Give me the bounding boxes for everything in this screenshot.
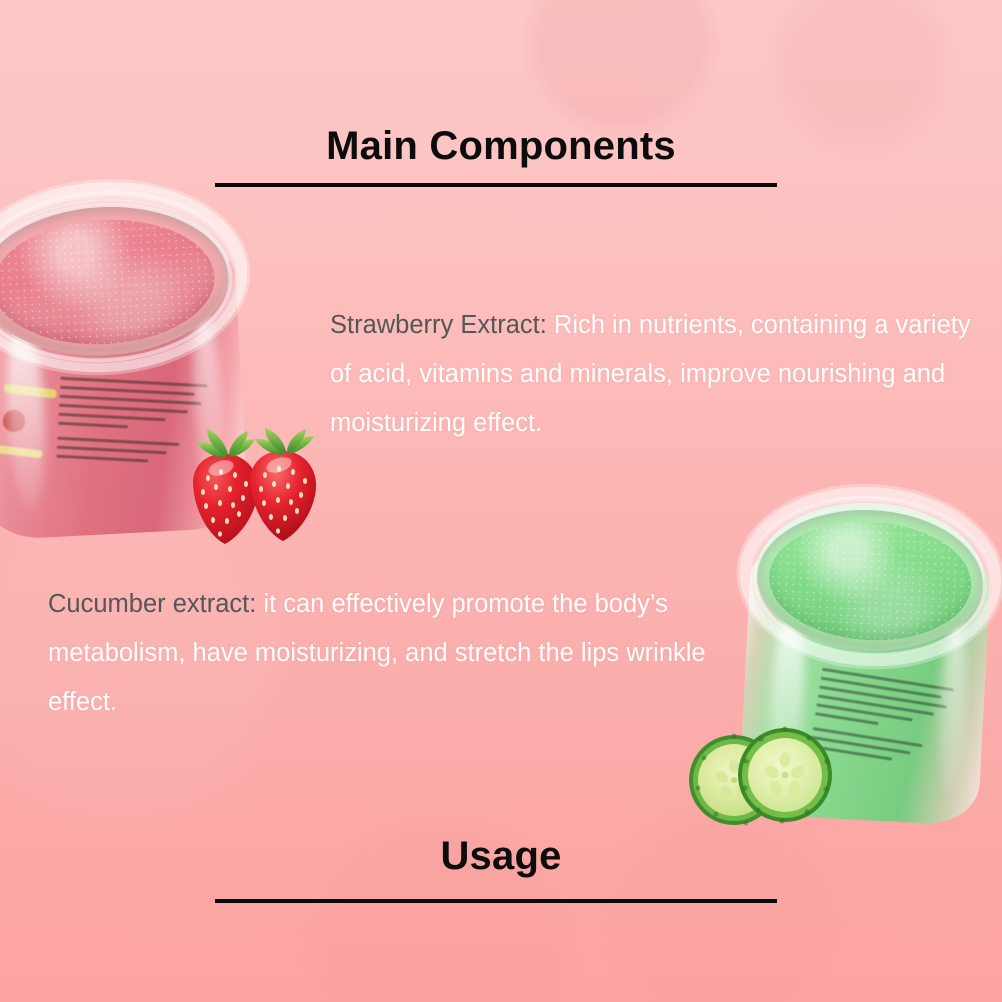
strawberry-garnish (175, 428, 327, 552)
infographic-page: Main Components (0, 0, 1002, 1002)
strawberry-description-lead: Strawberry Extract: (330, 311, 547, 339)
strawberries-icon (175, 428, 327, 552)
main-components-divider (215, 183, 777, 187)
usage-divider (215, 899, 777, 903)
cucumber-scrub-surface (767, 517, 974, 645)
usage-heading-text: Usage (0, 836, 1002, 876)
cucumber-description-lead: Cucumber extract: (48, 590, 256, 618)
cucumber-scrub-granules (767, 517, 974, 645)
main-components-heading-text: Main Components (0, 126, 1002, 166)
strawberry-description: Strawberry Extract: Rich in nutrients, c… (330, 301, 980, 448)
strawberry-scrub-surface (0, 214, 218, 350)
cucumber-slices-icon (688, 722, 846, 834)
strawberry-scrub-granules (0, 214, 218, 350)
strawberry-jar-brand-mark (0, 384, 57, 463)
cucumber-description: Cucumber extract: it can effectively pro… (48, 580, 708, 727)
cucumber-garnish (688, 722, 846, 834)
usage-heading: Usage (0, 836, 1002, 876)
main-components-heading: Main Components (0, 126, 1002, 166)
